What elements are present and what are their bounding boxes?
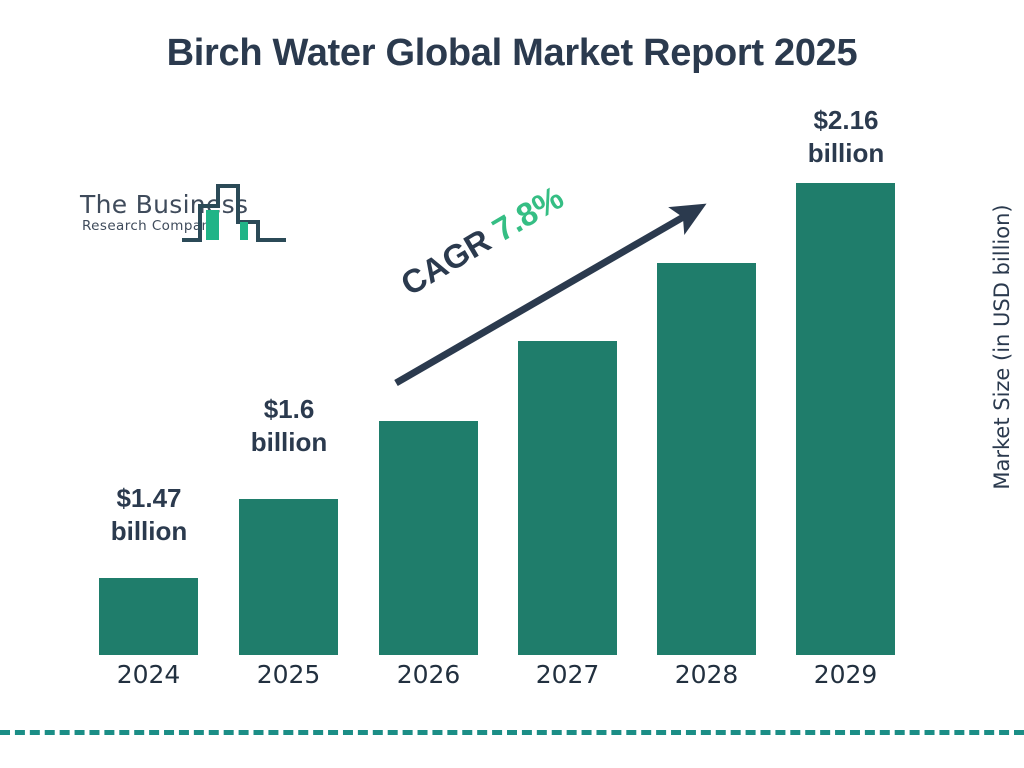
x-tick-2029: 2029 — [796, 660, 895, 689]
value-label-2025-unit: billion — [209, 426, 369, 459]
bar-2024 — [99, 578, 198, 655]
chart-canvas: Birch Water Global Market Report 2025 Th… — [0, 0, 1024, 768]
bar-2027 — [518, 341, 617, 655]
value-label-2024: $1.47 billion — [69, 482, 229, 549]
bar-2026 — [379, 421, 478, 655]
value-label-2024-unit: billion — [69, 515, 229, 548]
x-tick-2025: 2025 — [239, 660, 338, 689]
x-tick-2026: 2026 — [379, 660, 478, 689]
footer-divider — [0, 730, 1024, 735]
value-label-2029-unit: billion — [766, 137, 926, 170]
bar-chart-plot: $1.47 billion $1.6 billion $2.16 billion… — [0, 0, 1024, 768]
cagr-annotation: CAGR 7.8% — [394, 178, 570, 303]
cagr-value: 7.8% — [486, 178, 570, 248]
y-axis-title: Market Size (in USD billion) — [990, 197, 1014, 497]
cagr-label: CAGR — [394, 221, 497, 302]
value-label-2025: $1.6 billion — [209, 393, 369, 460]
value-label-2029-amount: $2.16 — [766, 104, 926, 137]
value-label-2025-amount: $1.6 — [209, 393, 369, 426]
x-tick-2024: 2024 — [99, 660, 198, 689]
x-tick-2028: 2028 — [657, 660, 756, 689]
bar-2028 — [657, 263, 756, 655]
value-label-2029: $2.16 billion — [766, 104, 926, 171]
bar-2029 — [796, 183, 895, 655]
bar-2025 — [239, 499, 338, 655]
x-tick-2027: 2027 — [518, 660, 617, 689]
value-label-2024-amount: $1.47 — [69, 482, 229, 515]
